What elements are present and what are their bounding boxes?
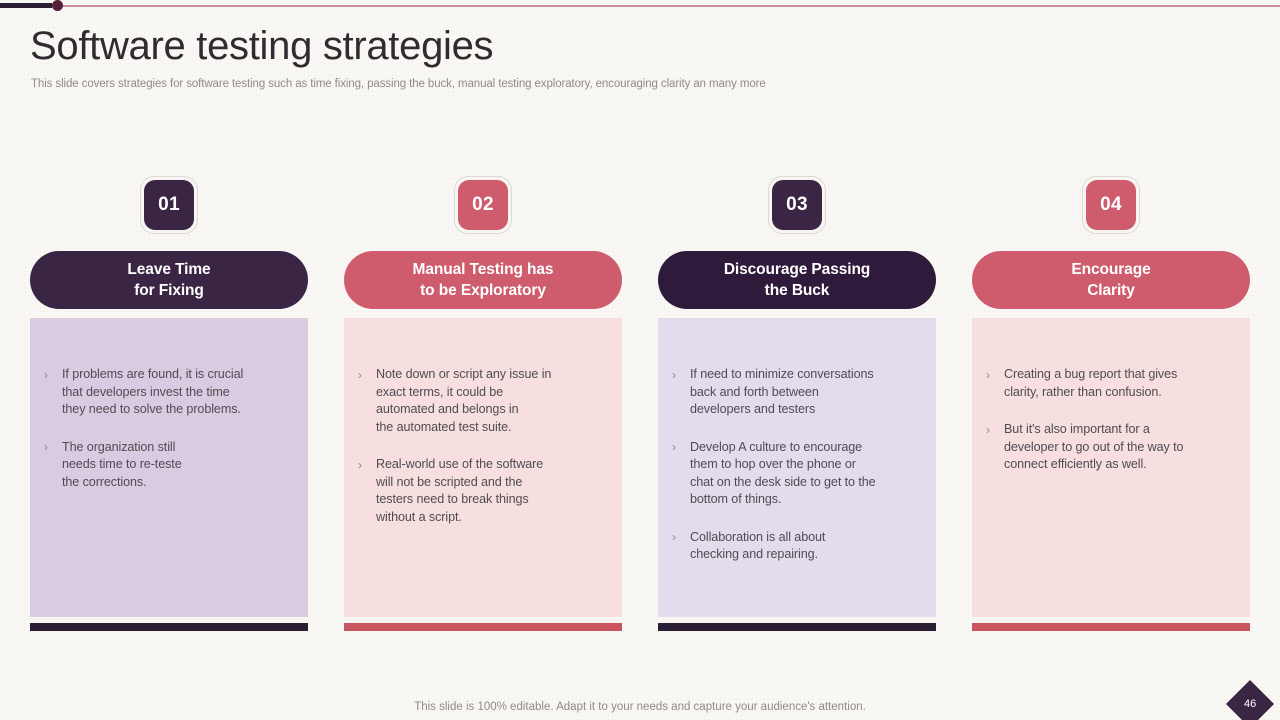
strategy-column-03: 03Discourage Passingthe Buck›If need to … <box>658 176 936 631</box>
bullet-item: ›If need to minimize conversations back … <box>672 366 922 419</box>
panel-bottom-bar <box>30 623 308 631</box>
chevron-right-icon: › <box>672 529 690 564</box>
strategy-body-panel: ›If need to minimize conversations back … <box>658 318 936 617</box>
top-rule-dot <box>52 0 63 11</box>
bullet-text: If problems are found, it is crucial tha… <box>62 366 294 419</box>
strategy-columns: 01Leave Timefor Fixing›If problems are f… <box>30 176 1250 631</box>
strategy-header-pill[interactable]: Leave Timefor Fixing <box>30 251 308 309</box>
page-title: Software testing strategies <box>30 22 493 70</box>
step-badge-number: 02 <box>458 180 508 230</box>
bullet-text: If need to minimize conversations back a… <box>690 366 922 419</box>
bullet-text: Note down or script any issue in exact t… <box>376 366 608 436</box>
strategy-column-02: 02Manual Testing hasto be Exploratory›No… <box>344 176 622 631</box>
strategy-title-line1: Leave Time <box>127 259 210 280</box>
strategy-body-panel: ›If problems are found, it is crucial th… <box>30 318 308 617</box>
step-badge-01: 01 <box>140 176 198 234</box>
bullet-text: The organization still needs time to re-… <box>62 439 294 492</box>
bullet-text: Develop A culture to encourage them to h… <box>690 439 922 509</box>
panel-bottom-bar <box>972 623 1250 631</box>
bullet-text: But it's also important for a developer … <box>1004 421 1236 474</box>
chevron-right-icon: › <box>44 366 62 419</box>
step-badge-02: 02 <box>454 176 512 234</box>
strategy-column-04: 04EncourageClarity›Creating a bug report… <box>972 176 1250 631</box>
strategy-title-line2: for Fixing <box>134 280 204 301</box>
strategy-header-pill[interactable]: Discourage Passingthe Buck <box>658 251 936 309</box>
top-rule-thin-line <box>0 5 1280 7</box>
chevron-right-icon: › <box>44 439 62 492</box>
bullet-text: Real-world use of the software will not … <box>376 456 608 526</box>
chevron-right-icon: › <box>672 366 690 419</box>
bullet-item: ›If problems are found, it is crucial th… <box>44 366 294 419</box>
bullet-item: ›Collaboration is all about checking and… <box>672 529 922 564</box>
strategy-title-line2: the Buck <box>765 280 830 301</box>
bullet-item: ›The organization still needs time to re… <box>44 439 294 492</box>
page-subtitle: This slide covers strategies for softwar… <box>31 78 766 90</box>
strategy-title-line1: Manual Testing has <box>413 259 554 280</box>
step-badge-number: 04 <box>1086 180 1136 230</box>
strategy-body-panel: ›Note down or script any issue in exact … <box>344 318 622 617</box>
chevron-right-icon: › <box>986 366 1004 401</box>
bullet-item: ›Develop A culture to encourage them to … <box>672 439 922 509</box>
chevron-right-icon: › <box>672 439 690 509</box>
chevron-right-icon: › <box>358 366 376 436</box>
top-rule-thick-bar <box>0 3 52 8</box>
strategy-header-pill[interactable]: EncourageClarity <box>972 251 1250 309</box>
top-decorative-rule <box>0 0 1280 12</box>
page-number-label: 46 <box>1244 698 1256 710</box>
step-badge-04: 04 <box>1082 176 1140 234</box>
bullet-item: ›But it's also important for a developer… <box>986 421 1236 474</box>
step-badge-03: 03 <box>768 176 826 234</box>
strategy-header-pill[interactable]: Manual Testing hasto be Exploratory <box>344 251 622 309</box>
panel-bottom-bar <box>658 623 936 631</box>
strategy-title-line2: Clarity <box>1087 280 1135 301</box>
bullet-text: Creating a bug report that gives clarity… <box>1004 366 1236 401</box>
chevron-right-icon: › <box>986 421 1004 474</box>
bullet-item: ›Creating a bug report that gives clarit… <box>986 366 1236 401</box>
step-badge-number: 01 <box>144 180 194 230</box>
chevron-right-icon: › <box>358 456 376 526</box>
panel-bottom-bar <box>344 623 622 631</box>
strategy-title-line1: Encourage <box>1071 259 1150 280</box>
bullet-item: ›Real-world use of the software will not… <box>358 456 608 526</box>
page-number-badge: 46 <box>1226 680 1274 720</box>
bullet-text: Collaboration is all about checking and … <box>690 529 922 564</box>
strategy-title-line1: Discourage Passing <box>724 259 870 280</box>
bullet-item: ›Note down or script any issue in exact … <box>358 366 608 436</box>
strategy-body-panel: ›Creating a bug report that gives clarit… <box>972 318 1250 617</box>
footer-note: This slide is 100% editable. Adapt it to… <box>0 701 1280 713</box>
strategy-column-01: 01Leave Timefor Fixing›If problems are f… <box>30 176 308 631</box>
step-badge-number: 03 <box>772 180 822 230</box>
strategy-title-line2: to be Exploratory <box>420 280 546 301</box>
